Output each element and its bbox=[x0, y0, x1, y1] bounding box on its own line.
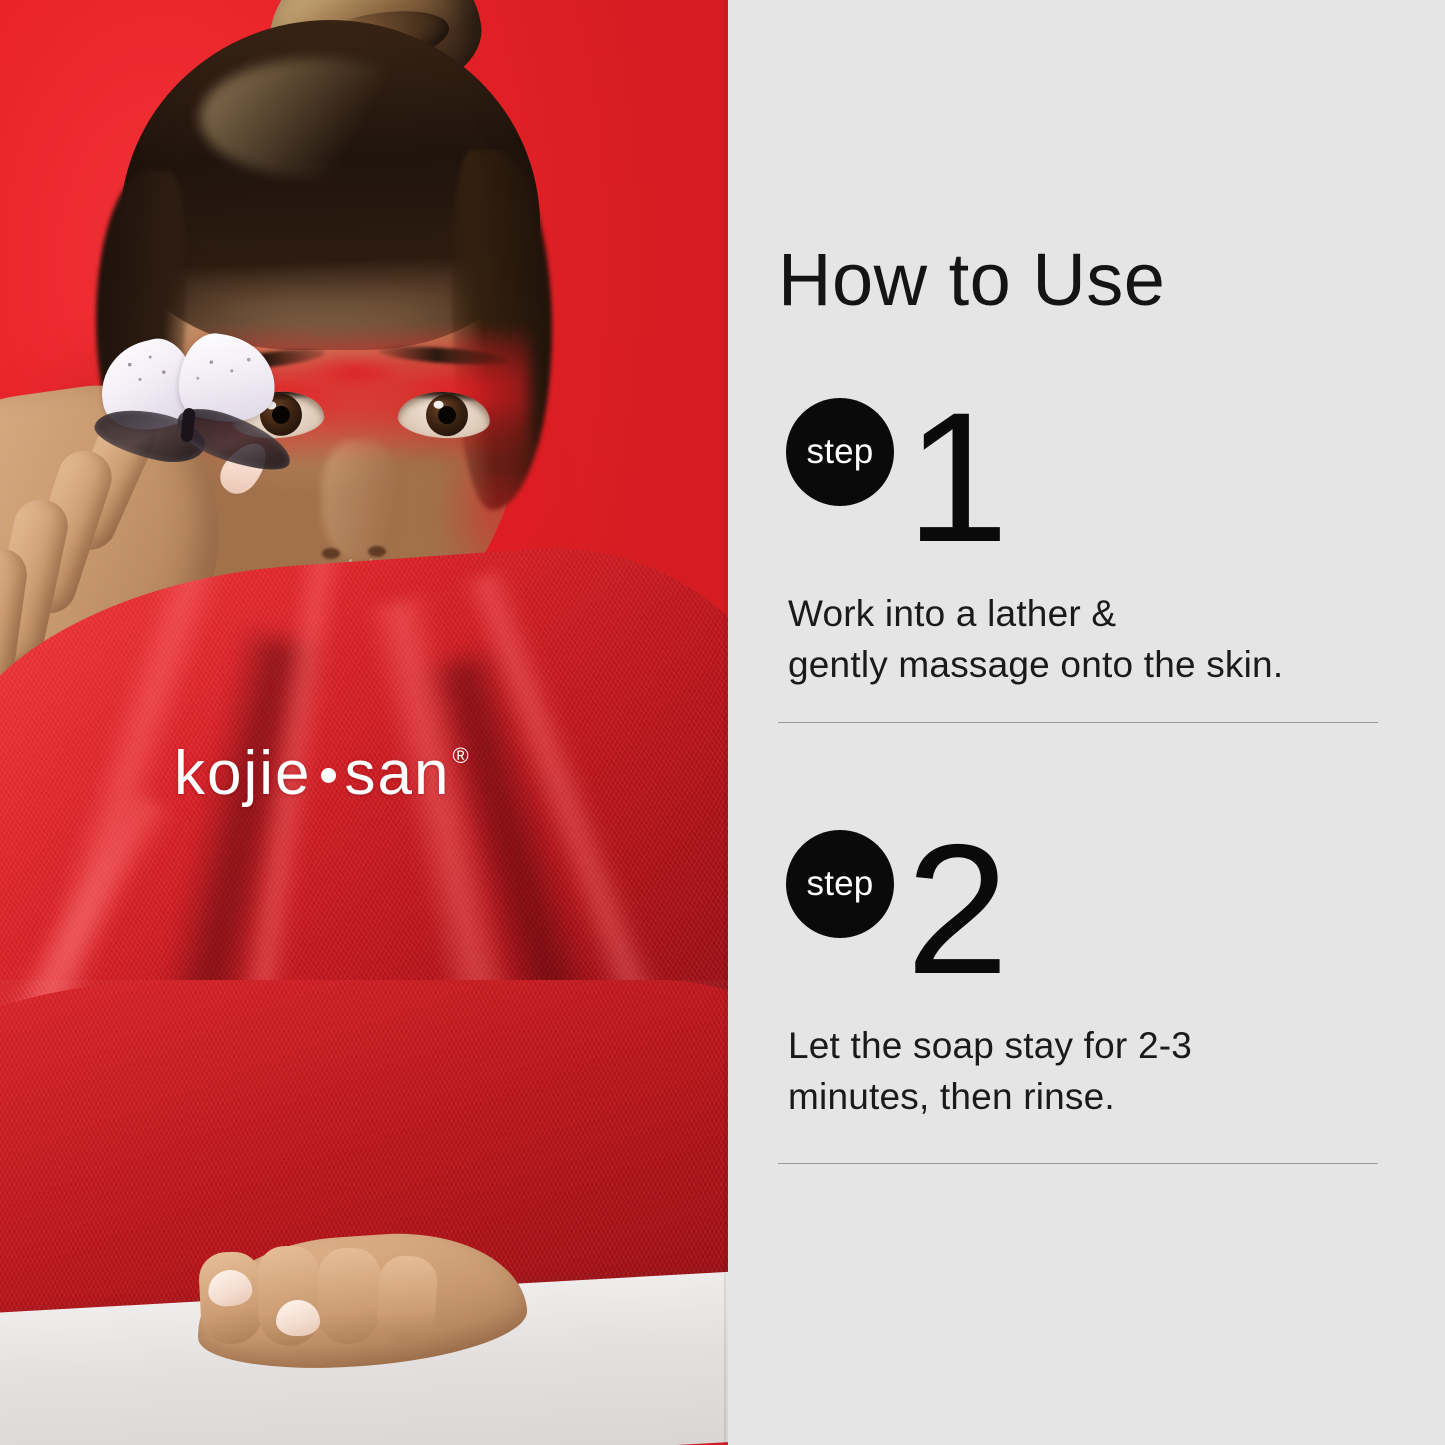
step-block-1: step 1 Work into a lather & gently massa… bbox=[778, 398, 1398, 593]
step-numeral-1: 1 bbox=[906, 406, 1009, 550]
step-description-2: Let the soap stay for 2-3 minutes, then … bbox=[788, 1020, 1192, 1122]
step-badge-label-2: step bbox=[807, 864, 874, 904]
brand-name-part1: kojie bbox=[174, 738, 312, 809]
brand-trademark: ® bbox=[452, 743, 470, 769]
product-instruction-card: kojie san ® How to Use step 1 Work into … bbox=[0, 0, 1445, 1445]
step-header-2: step 2 bbox=[778, 830, 1398, 1025]
model-photo-panel: kojie san ® bbox=[0, 0, 728, 1445]
step-badge-label-1: step bbox=[807, 432, 874, 472]
step-description-1: Work into a lather & gently massage onto… bbox=[788, 588, 1283, 690]
step-numeral-2: 2 bbox=[906, 838, 1009, 982]
butterfly-wing-pattern bbox=[106, 346, 276, 408]
resting-fingernail-2 bbox=[276, 1300, 320, 1336]
nostril-left bbox=[322, 548, 340, 559]
divider-2 bbox=[778, 1163, 1378, 1164]
resting-finger-3 bbox=[316, 1247, 381, 1345]
step-badge-2: step bbox=[786, 830, 894, 938]
page-title: How to Use bbox=[778, 243, 1165, 317]
brand-logo: kojie san ® bbox=[174, 738, 469, 809]
brand-separator-dot bbox=[321, 768, 336, 783]
butterfly bbox=[96, 334, 286, 464]
hair-sheen bbox=[200, 58, 440, 178]
step-block-2: step 2 Let the soap stay for 2-3 minutes… bbox=[778, 830, 1398, 1025]
instructions-panel: How to Use step 1 Work into a lather & g… bbox=[728, 0, 1445, 1445]
step-badge-1: step bbox=[786, 398, 894, 506]
nose bbox=[322, 440, 398, 560]
brand-name-part2: san bbox=[345, 738, 451, 809]
step-header-1: step 1 bbox=[778, 398, 1398, 593]
divider-1 bbox=[778, 722, 1378, 723]
nostril-right bbox=[368, 546, 386, 557]
pupil-right bbox=[438, 406, 457, 425]
